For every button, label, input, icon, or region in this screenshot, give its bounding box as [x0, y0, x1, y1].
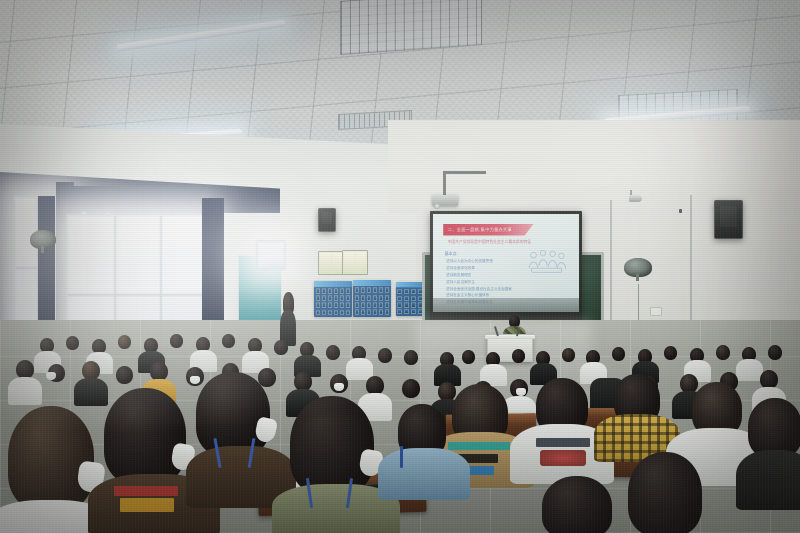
notice-board: [342, 250, 368, 275]
slide-bullet: 坚持全面深化改革: [446, 266, 475, 271]
wall-mounted-fan: [30, 230, 56, 256]
tshirt-print: [120, 498, 174, 512]
slide-bullet: 坚持全面依法治国,建设社会主义法治国家: [446, 287, 512, 292]
slide-bullet: 坚持新发展理念: [446, 273, 471, 278]
wall-mounted-speaker: [318, 208, 336, 232]
tshirt-print: [448, 442, 510, 450]
screen-shadow-strip: [433, 298, 579, 312]
slide-section-label: 基本点:: [445, 251, 458, 257]
projected-slide: 二、全面一盘棋,集中力量办大事 中国共产党领导是中国特色社会主义最本质的特征 基…: [433, 214, 579, 312]
id-lanyard: [400, 446, 403, 468]
wall-mounted-speaker: [714, 200, 743, 239]
slide-subheading: 中国共产党领导是中国特色社会主义最本质的特征: [448, 240, 565, 245]
honor-board: [353, 280, 391, 317]
slide-bullet: 坚持人民当家作主: [446, 280, 475, 285]
tshirt-print: [540, 450, 586, 466]
tshirt-print: [536, 438, 590, 447]
slide-bullet: 坚持以人民为中心的发展思想: [446, 259, 493, 264]
slide-illustration: [526, 246, 567, 279]
projector-mount-arm: [444, 171, 486, 174]
tshirt-print: [114, 486, 178, 496]
honor-board: [396, 282, 424, 316]
slide-heading: 二、全面一盘棋,集中力量办大事: [443, 227, 512, 233]
honor-board: [314, 281, 352, 317]
transom-window: [256, 240, 286, 270]
window-valance: [60, 186, 210, 212]
wall-mounted-fan: [624, 258, 652, 284]
projector-mount-pole: [443, 171, 446, 197]
light-switch[interactable]: [650, 307, 662, 316]
slide-heading-bar: 二、全面一盘棋,集中力量办大事: [443, 224, 534, 236]
security-camera: [629, 195, 643, 203]
projector-lens: [434, 203, 440, 209]
lecture-hall-photo: 二、全面一盘棋,集中力量办大事 中国共产党领导是中国特色社会主义最本质的特征 基…: [0, 0, 800, 533]
notice-board: [318, 251, 344, 275]
wall-sensor: [679, 209, 682, 213]
projection-screen: 二、全面一盘棋,集中力量办大事 中国共产党领导是中国特色社会主义最本质的特征 基…: [430, 211, 582, 322]
